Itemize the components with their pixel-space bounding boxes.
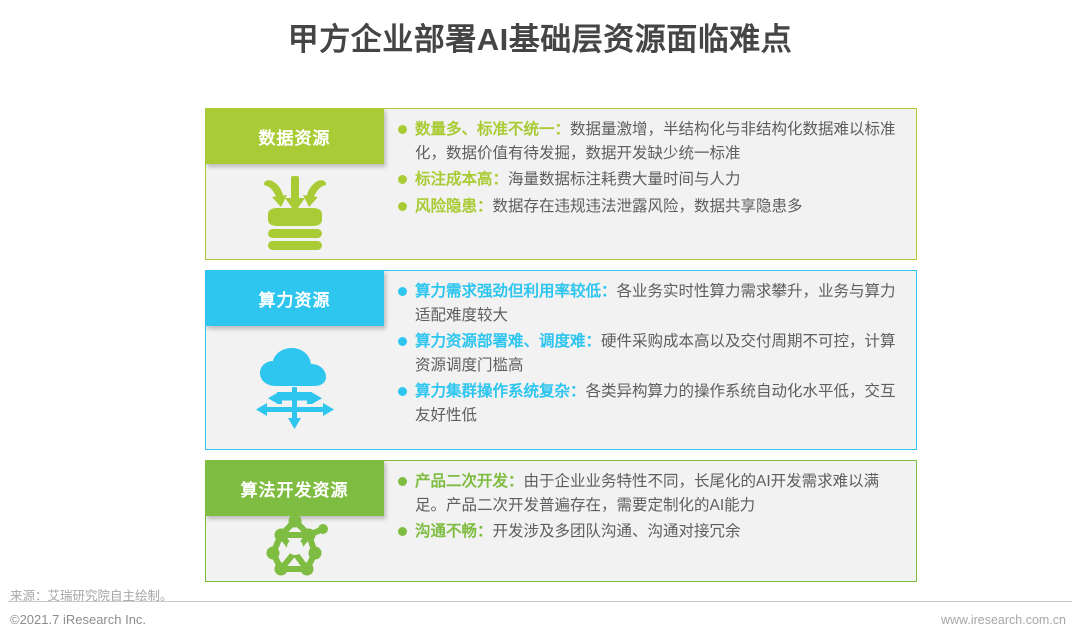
bullet-item: 数量多、标准不统一：数据量激增，半结构化与非结构化数据难以标准化，数据价值有待发…	[398, 118, 904, 165]
bullet-dot-icon	[398, 287, 407, 296]
section-left-column: 数据资源	[206, 109, 384, 259]
bullet-heading: 风险隐患：	[415, 198, 493, 215]
section-algorithm-resource: 算法开发资源	[205, 460, 917, 582]
bullet-dot-icon	[398, 527, 407, 536]
section-data-resource: 数据资源	[205, 108, 917, 260]
footer-divider	[8, 601, 1072, 602]
bullet-item: 算力集群操作系统复杂：各类异构算力的操作系统自动化水平低，交互友好性低	[398, 380, 904, 427]
bullet-heading: 产品二次开发：	[415, 473, 524, 490]
bullet-dot-icon	[398, 477, 407, 486]
bullet-item: 算力需求强劲但利用率较低：各业务实时性算力需求攀升，业务与算力适配难度较大	[398, 280, 904, 327]
section-bullets-data-resource: 数量多、标准不统一：数据量激增，半结构化与非结构化数据难以标准化，数据价值有待发…	[384, 109, 916, 259]
cloud-compute-icon	[206, 327, 384, 449]
database-inflow-icon	[206, 165, 384, 259]
bullet-item: 标注成本高：海量数据标注耗费大量时间与人力	[398, 168, 904, 192]
bullet-heading: 数量多、标准不统一：	[415, 121, 570, 138]
bullet-dot-icon	[398, 125, 407, 134]
bullet-heading: 算力集群操作系统复杂：	[415, 383, 586, 400]
section-label-compute-resource: 算力资源	[205, 270, 384, 326]
bottom-spacer	[0, 635, 1080, 640]
section-bullets-compute-resource: 算力需求强劲但利用率较低：各业务实时性算力需求攀升，业务与算力适配难度较大 算力…	[384, 271, 916, 449]
bullet-heading: 沟通不畅：	[415, 523, 493, 540]
section-bullets-algorithm-resource: 产品二次开发：由于企业业务特性不同，长尾化的AI开发需求难以满足。产品二次开发普…	[384, 461, 916, 581]
bullet-heading: 标注成本高：	[415, 171, 508, 188]
section-label-data-resource: 数据资源	[205, 108, 384, 164]
bullet-body: 海量数据标注耗费大量时间与人力	[508, 171, 741, 188]
page-title: 甲方企业部署AI基础层资源面临难点	[0, 14, 1080, 59]
bullet-dot-icon	[398, 387, 407, 396]
sections-container: 数据资源	[205, 108, 917, 592]
bullet-item: 产品二次开发：由于企业业务特性不同，长尾化的AI开发需求难以满足。产品二次开发普…	[398, 470, 904, 517]
molecule-network-icon	[206, 511, 384, 581]
bullet-dot-icon	[398, 337, 407, 346]
section-left-column: 算力资源	[206, 271, 384, 449]
bullet-body: 开发涉及多团队沟通、沟通对接冗余	[493, 523, 741, 540]
bullet-dot-icon	[398, 202, 407, 211]
copyright-text: ©2021.7 iResearch Inc.	[10, 612, 146, 627]
bullet-dot-icon	[398, 175, 407, 184]
section-compute-resource: 算力资源	[205, 270, 917, 450]
bullet-item: 风险隐患：数据存在违规违法泄露风险，数据共享隐患多	[398, 195, 904, 219]
website-url: www.iresearch.com.cn	[941, 613, 1066, 627]
bullet-item: 算力资源部署难、调度难：硬件采购成本高以及交付周期不可控，计算资源调度门槛高	[398, 330, 904, 377]
bullet-body: 数据存在违规违法泄露风险，数据共享隐患多	[493, 198, 803, 215]
bullet-heading: 算力资源部署难、调度难：	[415, 333, 601, 350]
section-left-column: 算法开发资源	[206, 461, 384, 581]
section-label-algorithm-resource: 算法开发资源	[205, 460, 384, 516]
bullet-heading: 算力需求强劲但利用率较低：	[415, 283, 617, 300]
bullet-item: 沟通不畅：开发涉及多团队沟通、沟通对接冗余	[398, 520, 904, 544]
